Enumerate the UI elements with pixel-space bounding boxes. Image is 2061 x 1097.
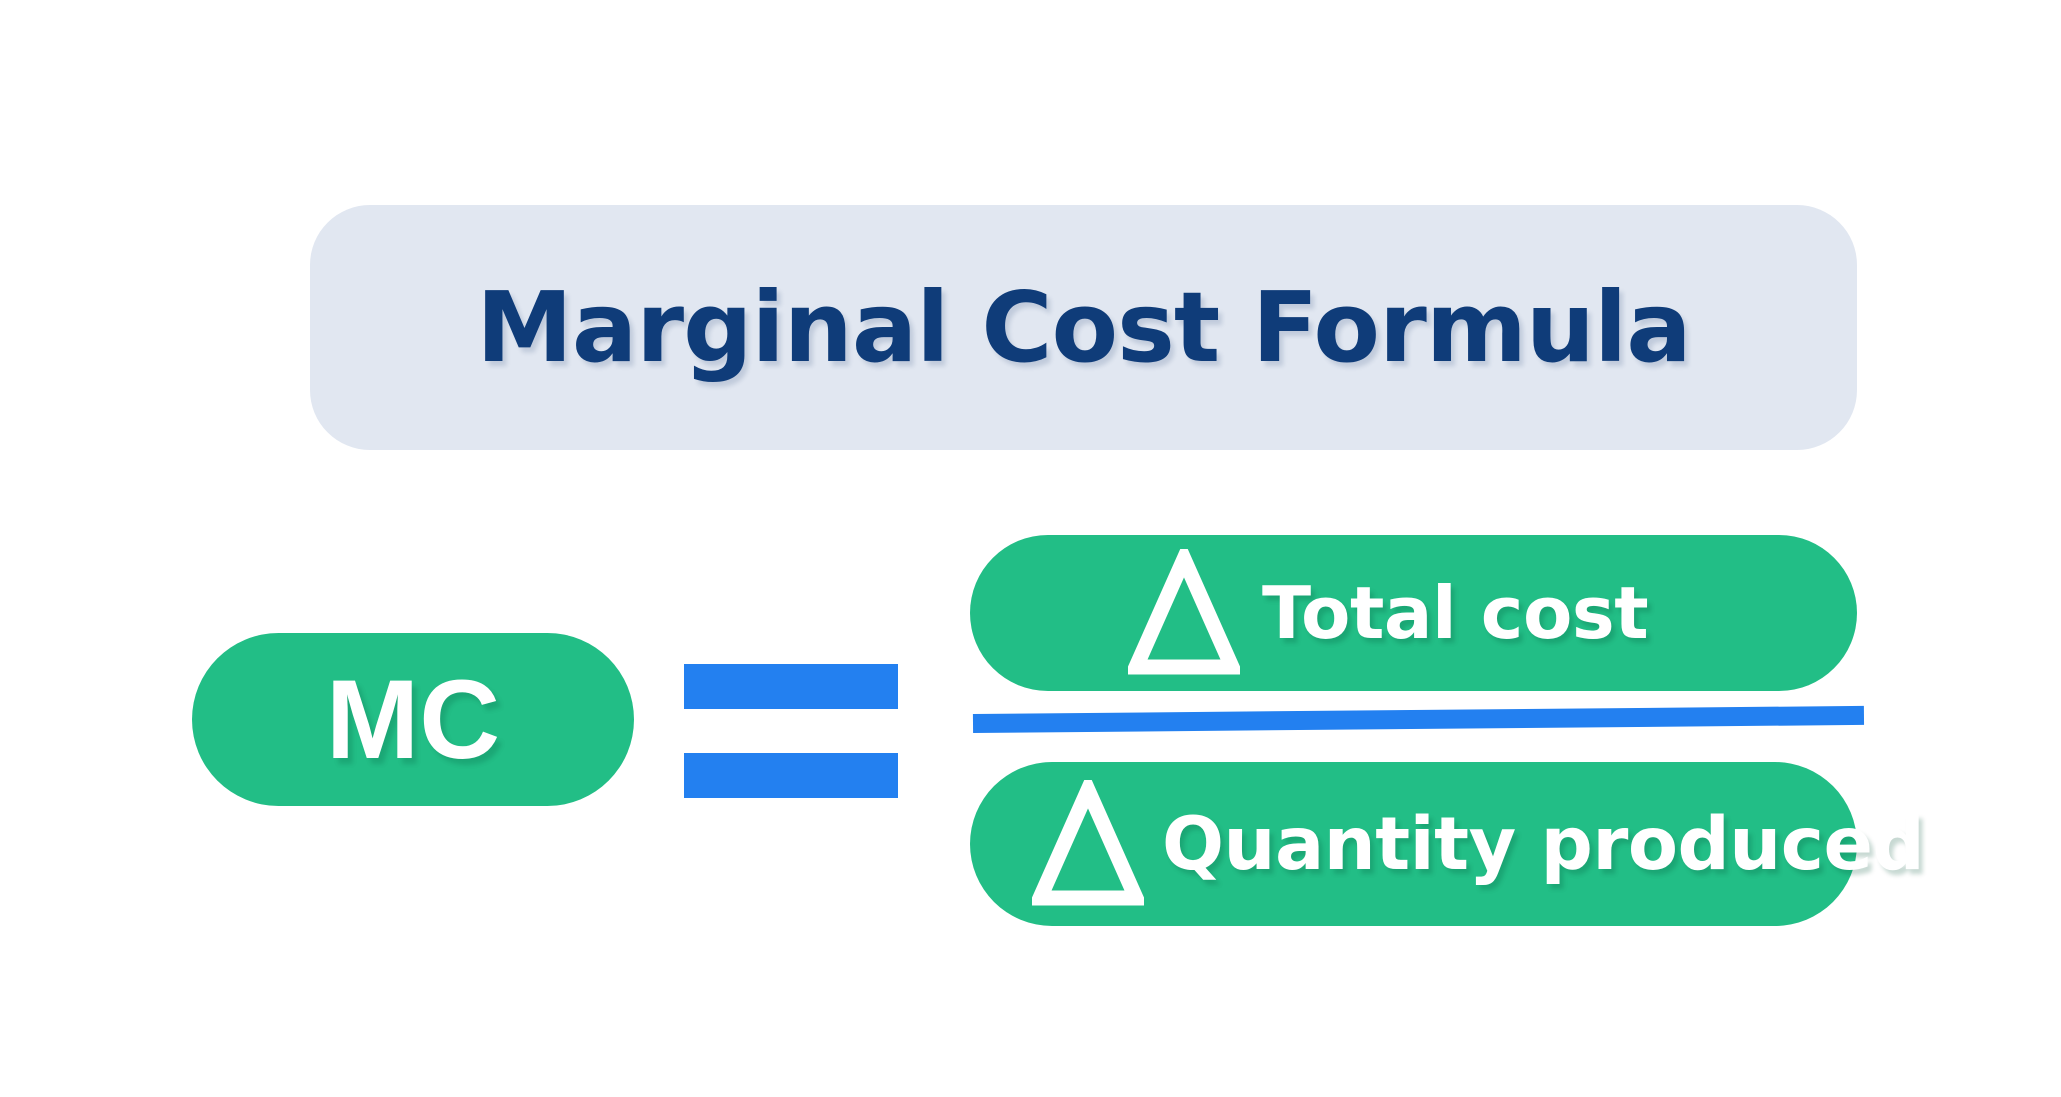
denominator-label: Quantity produced [1162,808,1924,881]
numerator-label: Total cost [1262,577,1648,649]
numerator-pill: Total cost [970,535,1857,691]
page-title: Marginal Cost Formula [476,279,1690,376]
denominator-pill: Quantity produced [970,762,1857,926]
fraction-bar [973,706,1864,733]
equals-sign-icon [684,664,898,798]
title-banner: Marginal Cost Formula [310,205,1857,450]
marginal-cost-term-pill: MC [192,633,634,806]
equals-bar-top [684,664,898,709]
delta-icon [1128,549,1240,677]
formula-infographic: Marginal Cost Formula MC Total cost Quan… [0,0,2061,1097]
marginal-cost-label: MC [326,664,500,776]
delta-icon [1032,780,1144,908]
fraction-group: Total cost Quantity produced [960,520,1880,950]
equals-bar-bottom [684,753,898,798]
